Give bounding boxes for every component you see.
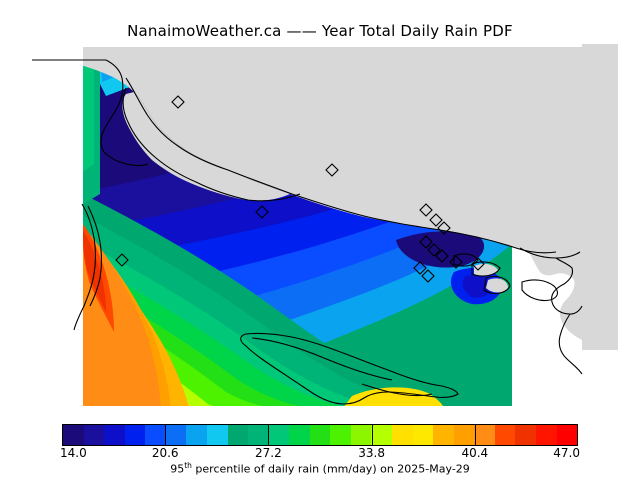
colorbar-band-3 [125,425,146,445]
colorbar-band-22 [515,425,536,445]
colorbar-band-0 [63,425,84,445]
colorbar-band-8 [228,425,249,445]
colorbar-band-11 [289,425,310,445]
caption-rest: percentile of daily rain (mm/day) on 202… [192,463,470,476]
page-title: NanaimoWeather.ca —— Year Total Daily Ra… [0,22,640,40]
colorbar-band-7 [207,425,228,445]
map-plot-area[interactable] [22,44,618,412]
caption-superscript: th [184,461,192,470]
colorbar-caption: 95th percentile of daily rain (mm/day) o… [0,461,640,476]
colorbar-band-5 [166,425,187,445]
colorbar-band-15 [371,425,392,445]
colorbar-band-2 [104,425,125,445]
colorbar-band-18 [433,425,454,445]
colorbar-band-23 [536,425,557,445]
colorbar-band-17 [413,425,434,445]
land-far-east-upper [582,44,618,350]
colorbar-band-16 [392,425,413,445]
colorbar-band-21 [495,425,516,445]
contour-map-svg[interactable] [22,44,618,412]
colorbar-label-3: 33.8 [358,446,385,460]
colorbar-band-24 [557,425,578,445]
colorbar-band-1 [84,425,105,445]
colorbar-band-19 [454,425,475,445]
colorbar[interactable] [62,424,578,446]
colorbar-band-6 [186,425,207,445]
colorbar-label-1: 20.6 [152,446,179,460]
mask-bottom [83,406,512,412]
colorbar-band-4 [145,425,166,445]
colorbar-strip[interactable] [62,424,578,446]
colorbar-tick-labels: 14.020.627.233.840.447.0 [62,446,578,462]
colorbar-band-9 [248,425,269,445]
colorbar-band-13 [330,425,351,445]
colorbar-label-4: 40.4 [461,446,488,460]
colorbar-label-2: 27.2 [255,446,282,460]
colorbar-band-14 [351,425,372,445]
colorbar-band-12 [310,425,331,445]
mask-left [22,44,83,412]
colorbar-label-5: 47.0 [553,446,580,460]
colorbar-band-10 [269,425,290,445]
caption-prefix: 95 [170,463,184,476]
colorbar-label-0: 14.0 [60,446,87,460]
weather-map-page: NanaimoWeather.ca —— Year Total Daily Ra… [0,0,640,480]
colorbar-band-20 [474,425,495,445]
